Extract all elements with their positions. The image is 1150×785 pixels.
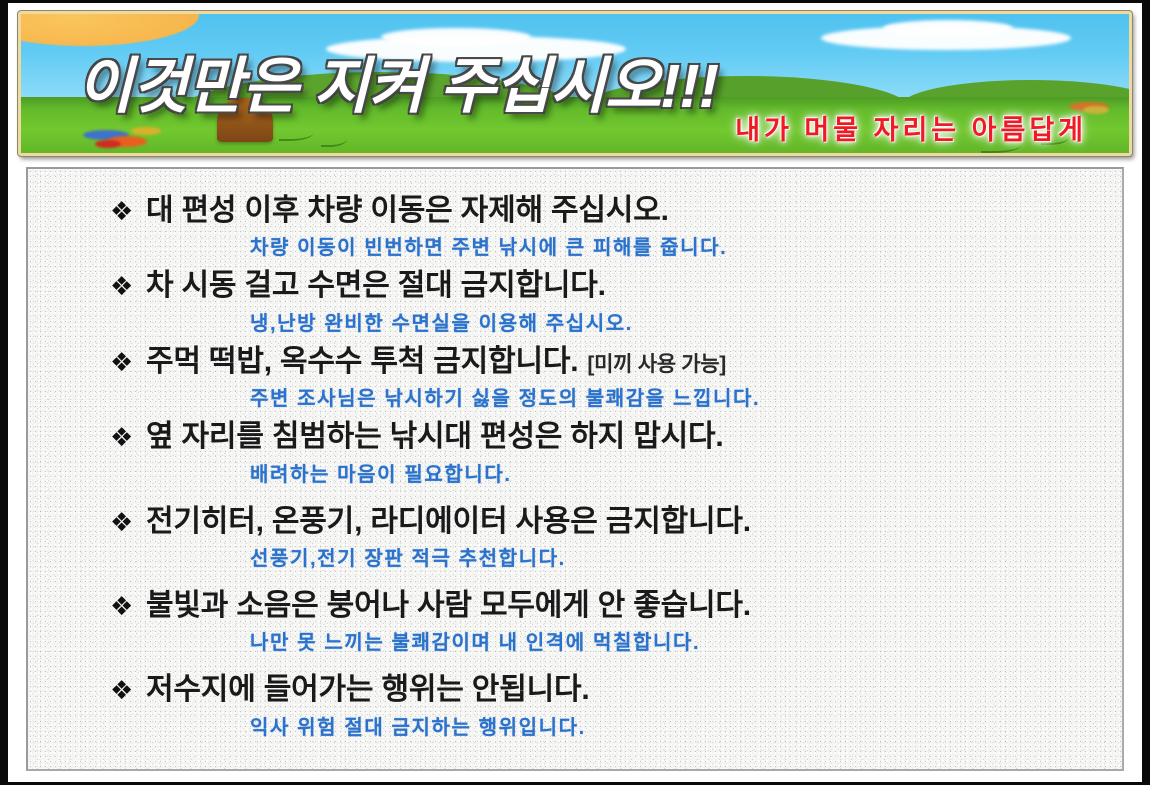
list-item: ❖ 주먹 떡밥, 옥수수 투척 금지합니다. [미끼 사용 가능] 주변 조사님… xyxy=(28,344,1122,411)
list-item: ❖ 저수지에 들어가는 행위는 안됩니다. 익사 위험 절대 금지하는 행위입니… xyxy=(28,672,1122,739)
rule-main-line: ❖ 저수지에 들어가는 행위는 안됩니다. xyxy=(110,672,1122,707)
diamond-bullet-icon: ❖ xyxy=(110,509,146,535)
rule-main-line: ❖ 전기히터, 온풍기, 라디에이터 사용은 금지합니다. xyxy=(110,504,1122,539)
cloud-icon xyxy=(883,20,1013,36)
rule-text: 전기히터, 온풍기, 라디에이터 사용은 금지합니다. xyxy=(146,504,751,539)
rule-subtext: 나만 못 느끼는 불쾌감이며 내 인격에 먹칠합니다. xyxy=(250,626,1122,655)
diamond-bullet-icon: ❖ xyxy=(110,593,146,619)
rule-main-line: ❖ 옆 자리를 침범하는 낚시대 편성은 하지 맙시다. xyxy=(110,419,1122,454)
poster-screen: 이것만은 지켜 주십시오!!! 내가 머물 자리는 아름답게 ❖ 대 편성 이후… xyxy=(0,0,1150,785)
rule-subtext: 차량 이동이 빈번하면 주변 낚시에 큰 피해를 줍니다. xyxy=(250,231,1122,260)
rule-text: 대 편성 이후 차량 이동은 자제해 주십시오. xyxy=(146,193,669,228)
rule-text: 옆 자리를 침범하는 낚시대 편성은 하지 맙시다. xyxy=(146,419,724,454)
list-item: ❖ 옆 자리를 침범하는 낚시대 편성은 하지 맙시다. 배려하는 마음이 필요… xyxy=(28,419,1122,486)
list-item: ❖ 불빛과 소음은 붕어나 사람 모두에게 안 좋습니다. 나만 못 느끼는 불… xyxy=(28,588,1122,655)
diamond-bullet-icon: ❖ xyxy=(110,424,146,450)
diamond-bullet-icon: ❖ xyxy=(110,198,146,224)
rule-subtext: 주변 조사님은 낚시하기 싫을 정도의 불쾌감을 느낍니다. xyxy=(250,382,1122,411)
list-item: ❖ 전기히터, 온풍기, 라디에이터 사용은 금지합니다. 선풍기,전기 장판 … xyxy=(28,504,1122,571)
list-item: ❖ 차 시동 걸고 수면은 절대 금지합니다. 냉,난방 완비한 수면실을 이용… xyxy=(28,268,1122,335)
rule-subtext: 선풍기,전기 장판 적극 추천합니다. xyxy=(250,542,1122,571)
header-banner: 이것만은 지켜 주십시오!!! 내가 머물 자리는 아름답게 xyxy=(18,11,1132,156)
rule-text: 주먹 떡밥, 옥수수 투척 금지합니다. xyxy=(146,344,578,379)
diamond-bullet-icon: ❖ xyxy=(110,349,146,375)
rule-subtext: 냉,난방 완비한 수면실을 이용해 주십시오. xyxy=(250,307,1122,336)
rules-list: ❖ 대 편성 이후 차량 이동은 자제해 주십시오. 차량 이동이 빈번하면 주… xyxy=(28,169,1122,740)
poster-page: 이것만은 지켜 주십시오!!! 내가 머물 자리는 아름답게 ❖ 대 편성 이후… xyxy=(8,3,1142,782)
flower-icon xyxy=(95,140,121,148)
rule-subtext: 배려하는 마음이 필요합니다. xyxy=(250,458,1122,487)
banner-subtitle: 내가 머물 자리는 아름답게 xyxy=(735,108,1087,147)
rule-main-line: ❖ 주먹 떡밥, 옥수수 투척 금지합니다. [미끼 사용 가능] xyxy=(110,344,1122,379)
list-item: ❖ 대 편성 이후 차량 이동은 자제해 주십시오. 차량 이동이 빈번하면 주… xyxy=(28,193,1122,260)
rule-main-line: ❖ 차 시동 걸고 수면은 절대 금지합니다. xyxy=(110,268,1122,303)
diamond-bullet-icon: ❖ xyxy=(110,273,146,299)
rule-text: 차 시동 걸고 수면은 절대 금지합니다. xyxy=(146,268,606,303)
rule-note: [미끼 사용 가능] xyxy=(587,348,726,378)
rules-panel: ❖ 대 편성 이후 차량 이동은 자제해 주십시오. 차량 이동이 빈번하면 주… xyxy=(26,167,1124,771)
rule-subtext: 익사 위험 절대 금지하는 행위입니다. xyxy=(250,711,1122,740)
rule-text: 불빛과 소음은 붕어나 사람 모두에게 안 좋습니다. xyxy=(146,588,751,623)
banner-title: 이것만은 지켜 주십시오!!! xyxy=(77,36,718,125)
flower-icon xyxy=(131,127,161,135)
diamond-bullet-icon: ❖ xyxy=(110,677,146,703)
rule-text: 저수지에 들어가는 행위는 안됩니다. xyxy=(146,672,590,707)
rule-main-line: ❖ 불빛과 소음은 붕어나 사람 모두에게 안 좋습니다. xyxy=(110,588,1122,623)
rule-main-line: ❖ 대 편성 이후 차량 이동은 자제해 주십시오. xyxy=(110,193,1122,228)
